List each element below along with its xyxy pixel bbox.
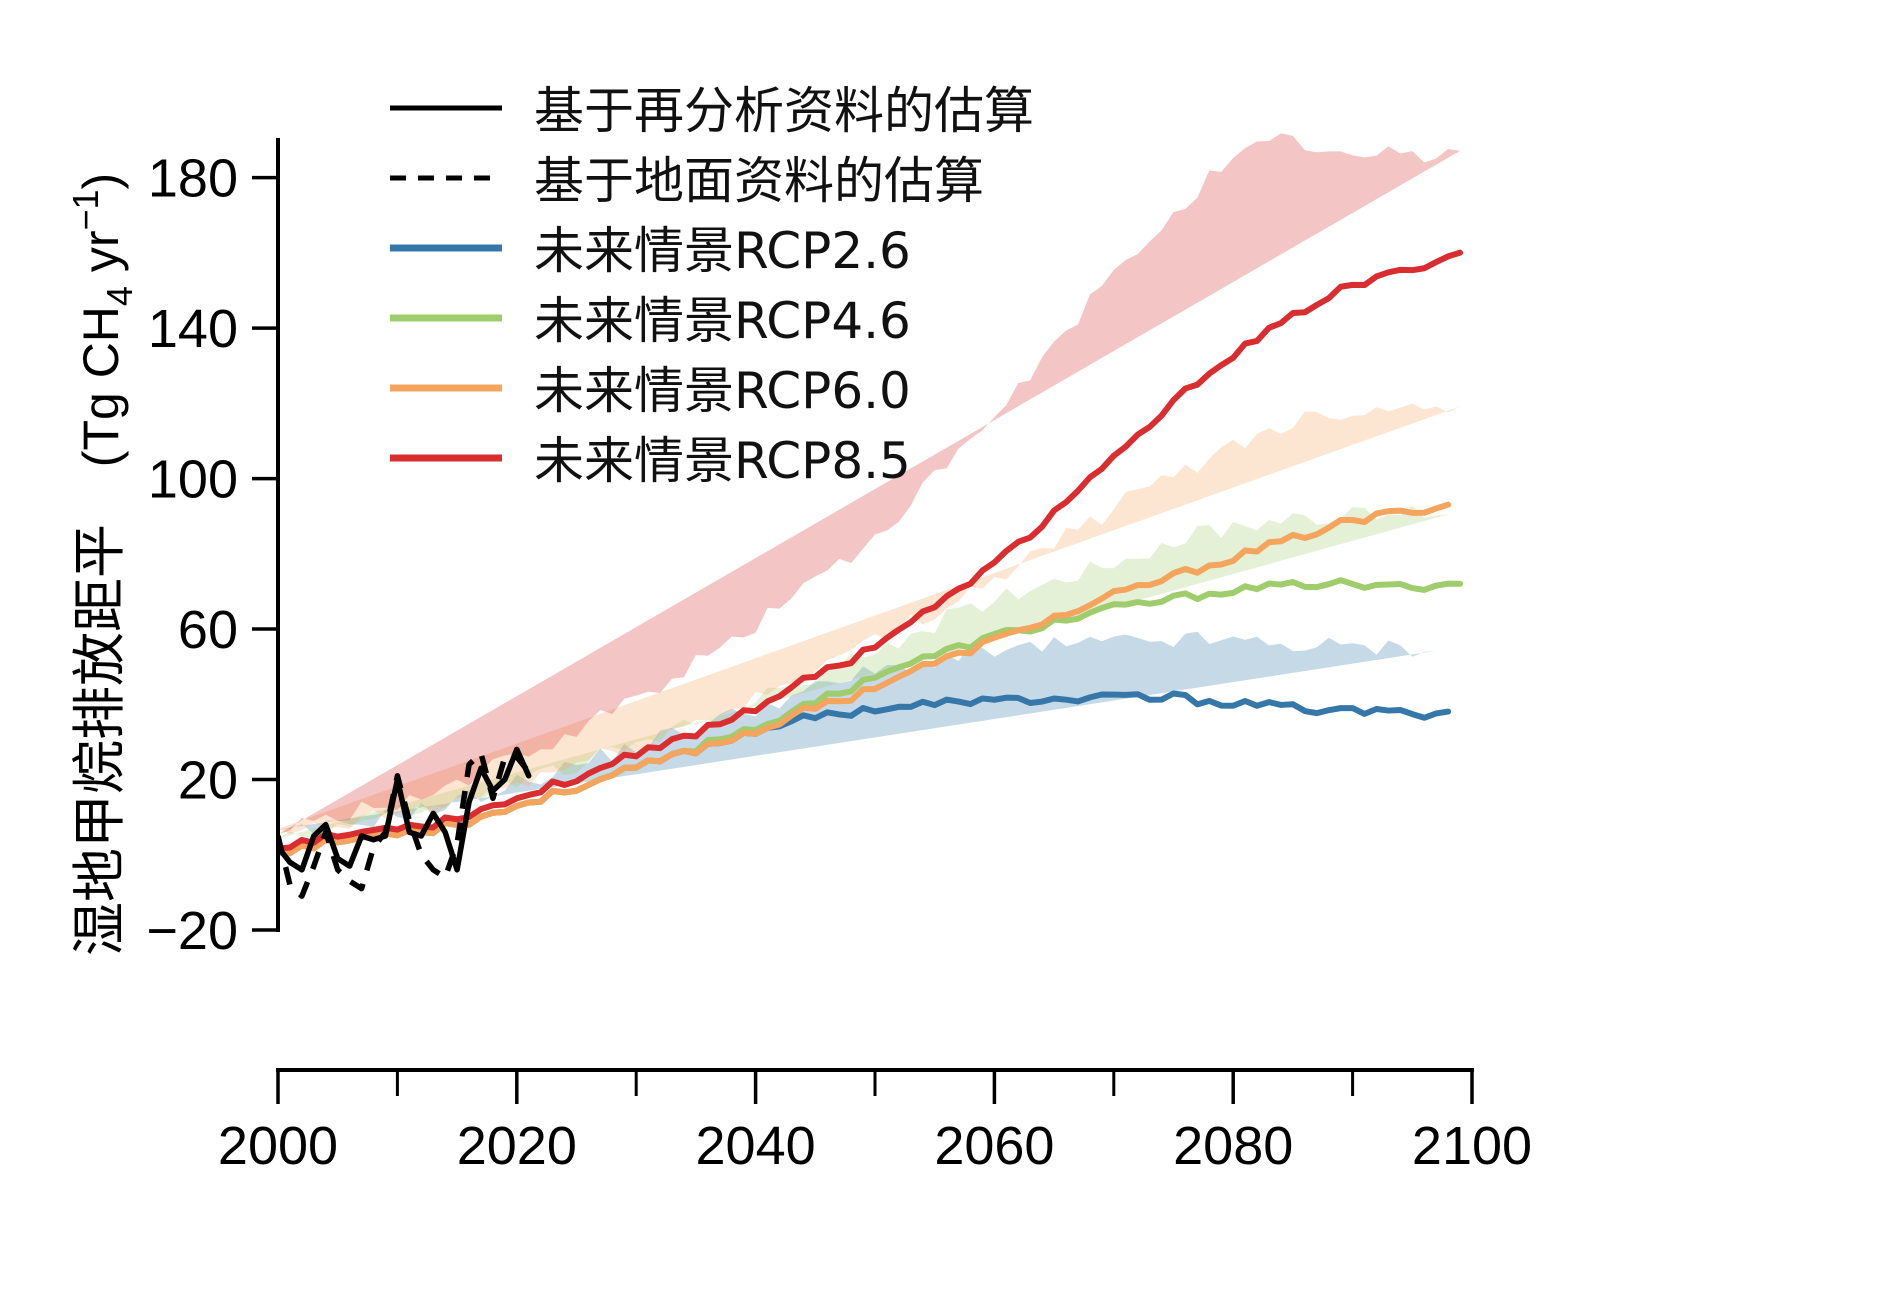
chart-canvas: −202060100140180 20002020204020602080210… <box>0 0 1900 1298</box>
unit-subscript: 4 <box>99 286 140 306</box>
y-tick-group: −202060100140180 <box>146 149 278 961</box>
x-tick-label: 2000 <box>218 1116 338 1176</box>
unit-mid: yr <box>73 231 129 287</box>
figure-root: −202060100140180 20002020204020602080210… <box>0 0 1900 1298</box>
y-axis: −202060100140180 <box>146 140 278 961</box>
legend-label-rcp26: 未来情景RCP2.6 <box>534 222 911 280</box>
y-axis-label-cn: 湿地甲烷排放距平 <box>68 524 131 956</box>
y-tick-label: 100 <box>148 450 238 510</box>
legend-label-reanalysis-estimate: 基于再分析资料的估算 <box>534 82 1034 140</box>
y-tick-label: 20 <box>178 751 238 811</box>
x-tick-label: 2040 <box>696 1116 816 1176</box>
x-axis: 200020202040206020802100 <box>218 1070 1532 1176</box>
legend-label-rcp46: 未来情景RCP4.6 <box>534 292 911 350</box>
legend-label-rcp60: 未来情景RCP6.0 <box>534 362 911 420</box>
unit-suffix: ) <box>73 173 129 190</box>
x-tick-label: 2060 <box>934 1116 1054 1176</box>
legend-label-ground-data-estimate: 基于地面资料的估算 <box>534 152 984 210</box>
y-axis-label-unit: (Tg CH4 yr−1) <box>65 173 140 467</box>
x-tick-label: 2100 <box>1412 1116 1532 1176</box>
x-tick-group: 200020202040206020802100 <box>218 1070 1532 1176</box>
legend-label-rcp85: 未来情景RCP8.5 <box>534 432 911 490</box>
unit-prefix: (Tg CH <box>73 306 129 467</box>
y-tick-label: −20 <box>146 901 238 961</box>
unit-superscript: −1 <box>65 189 106 230</box>
y-tick-label: 140 <box>148 299 238 359</box>
y-tick-label: 60 <box>178 600 238 660</box>
chart-legend: 基于再分析资料的估算基于地面资料的估算未来情景RCP2.6未来情景RCP4.6未… <box>390 82 1034 490</box>
x-tick-label: 2020 <box>457 1116 577 1176</box>
x-tick-label: 2080 <box>1173 1116 1293 1176</box>
y-tick-label: 180 <box>148 149 238 209</box>
